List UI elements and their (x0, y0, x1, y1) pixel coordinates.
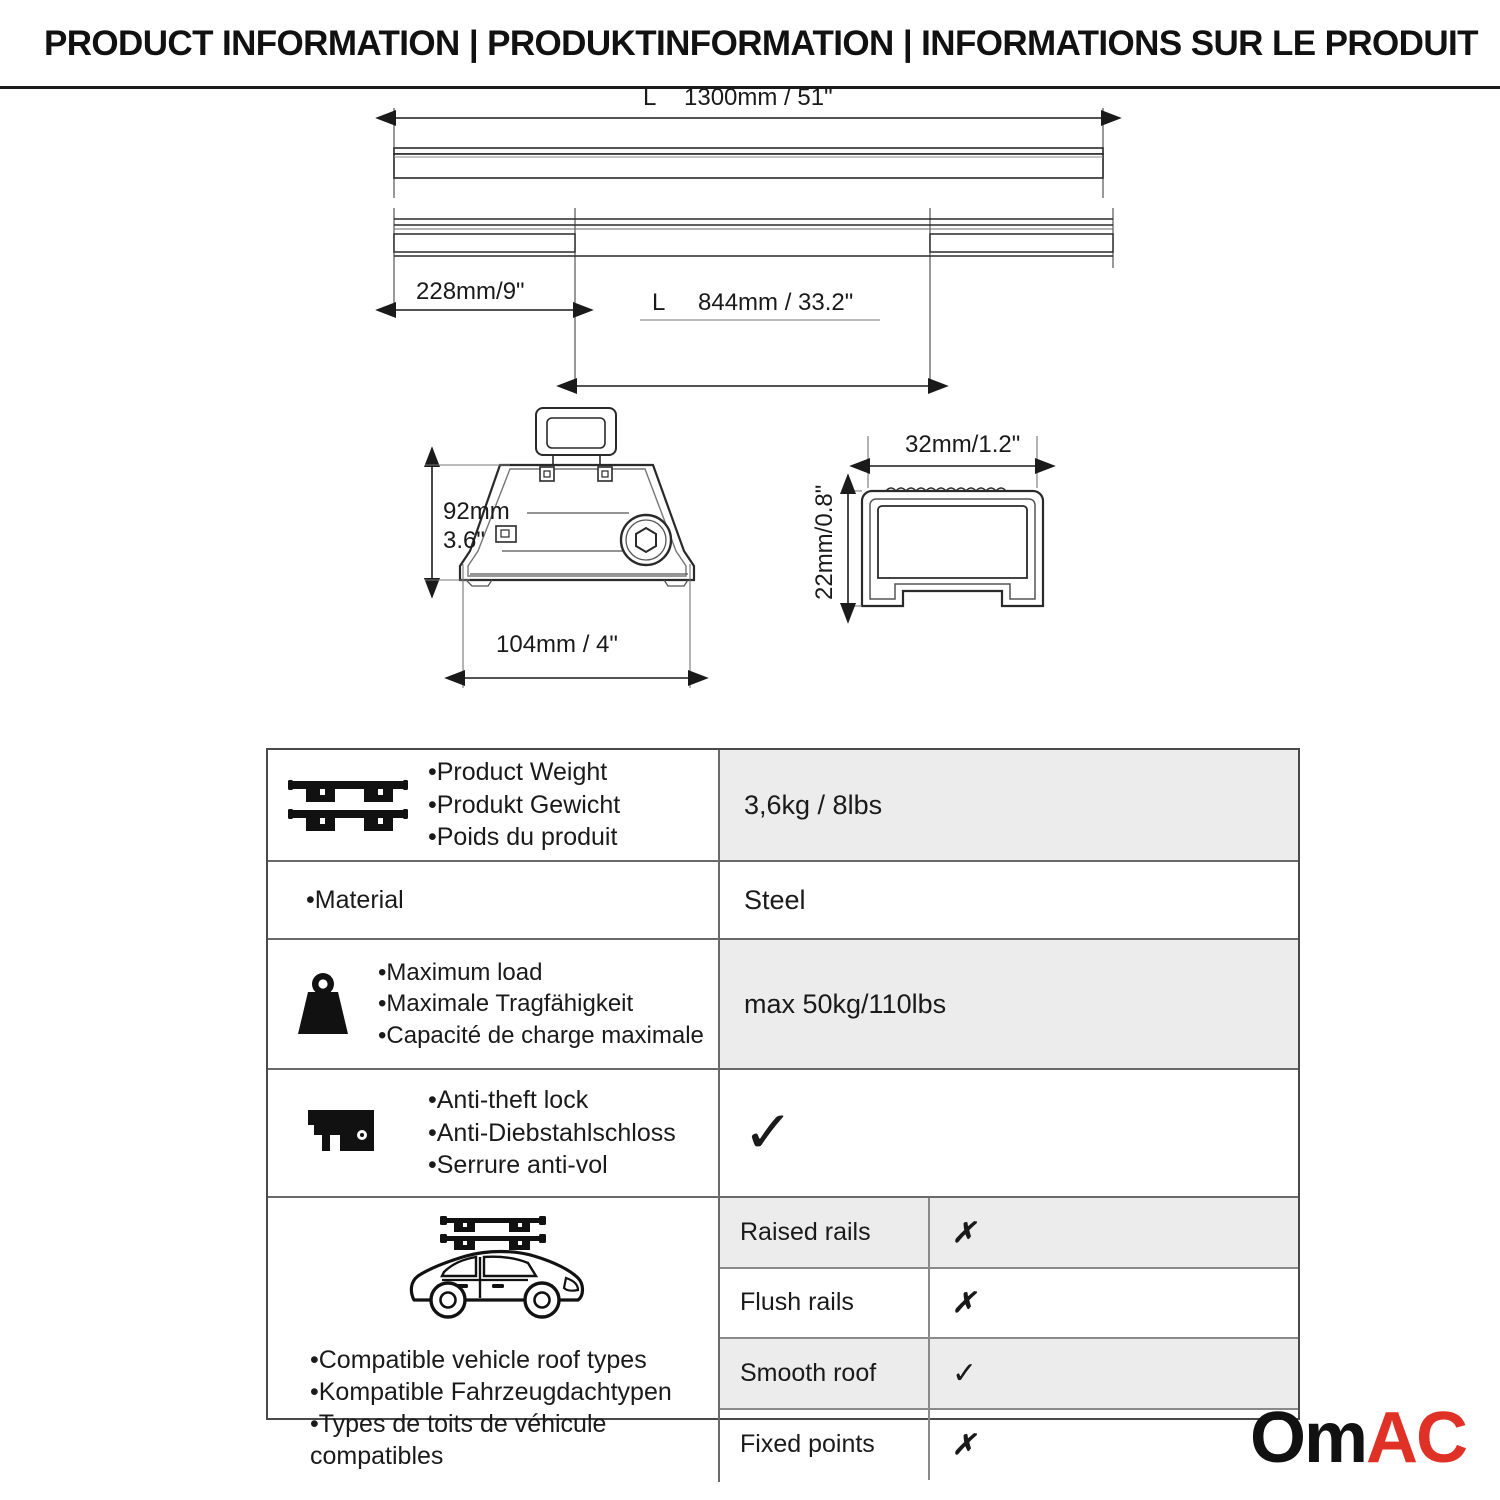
row-label-cell: •Product Weight •Produkt Gewicht •Poids … (268, 750, 720, 860)
table-row-anti-theft-lock: •Anti-theft lock •Anti-Diebstahlschloss … (268, 1070, 1298, 1198)
label-line: •Compatible vehicle roof types (310, 1344, 672, 1376)
roof-types-support-table: Raised rails ✗ Flush rails ✗ Smooth roof… (720, 1198, 1298, 1482)
row-label-cell: •Maximum load •Maximale Tragfähigkeit •C… (268, 940, 720, 1068)
label-line: compatibles (310, 1440, 672, 1472)
roof-type-support-value: ✗ (930, 1269, 1298, 1338)
label-line: •Poids du produit (428, 821, 716, 854)
page-title: PRODUCT INFORMATION | PRODUKTINFORMATION… (44, 24, 1478, 64)
roof-type-name: Raised rails (720, 1198, 930, 1267)
table-row-roof-types: •Compatible vehicle roof types •Kompatib… (268, 1198, 1298, 1482)
dim-profile-width-value: 32mm/1.2" (905, 431, 1020, 458)
roof-type-name: Fixed points (720, 1410, 930, 1481)
cross-icon: ✗ (952, 1428, 975, 1461)
roof-type-name: Smooth roof (720, 1339, 930, 1408)
roof-type-name: Flush rails (720, 1269, 930, 1338)
roof-type-support-value: ✓ (930, 1339, 1298, 1408)
omac-logo: OmAC (1250, 1402, 1466, 1474)
dim-foot-width-value: 104mm / 4" (496, 631, 618, 658)
label-line: •Types de toits de véhicule (310, 1408, 672, 1440)
label-line: •Serrure anti-vol (428, 1149, 716, 1182)
roof-type-row-raised-rails: Raised rails ✗ (720, 1198, 1298, 1269)
row-labels: •Anti-theft lock •Anti-Diebstahlschloss … (428, 1084, 718, 1182)
row-label-cell: •Anti-theft lock •Anti-Diebstahlschloss … (268, 1070, 720, 1196)
dim-foot-height-line1: 92mm (443, 498, 510, 525)
page-header: PRODUCT INFORMATION | PRODUKTINFORMATION… (0, 0, 1500, 88)
dim-foot-height-line2: 3.6" (443, 527, 485, 554)
label-line: •Capacité de charge maximale (378, 1020, 716, 1051)
check-icon: ✓ (952, 1356, 977, 1391)
label-line: •Maximale Tragfähigkeit (378, 988, 716, 1019)
row-value-material: Steel (720, 862, 1298, 938)
two-crossbars-icon (268, 776, 428, 834)
roof-type-row-fixed-points: Fixed points ✗ (720, 1410, 1298, 1481)
drawing-canvas: L 1300mm / 51" 228mm/9" L 844mm / 33.2" (0, 88, 1500, 738)
roof-type-row-flush-rails: Flush rails ✗ (720, 1269, 1298, 1340)
label-line: •Product Weight (428, 756, 716, 789)
roof-types-label-cell: •Compatible vehicle roof types •Kompatib… (268, 1198, 720, 1482)
table-row-maximum-load: •Maximum load •Maximale Tragfähigkeit •C… (268, 940, 1298, 1070)
car-with-rack-icon (282, 1212, 710, 1330)
checkmark-icon: ✓ (743, 1104, 794, 1162)
cross-icon: ✗ (952, 1216, 975, 1249)
label-line: •Material (306, 884, 716, 917)
weight-icon (268, 972, 378, 1036)
cross-icon: ✗ (952, 1286, 975, 1319)
specification-table: •Product Weight •Produkt Gewicht •Poids … (266, 748, 1300, 1420)
row-value-maximum-load: max 50kg/110lbs (720, 940, 1298, 1068)
label-line: •Anti-Diebstahlschloss (428, 1117, 716, 1150)
row-labels: •Maximum load •Maximale Tragfähigkeit •C… (378, 957, 718, 1051)
dim-foot-offset-value: 228mm/9" (416, 278, 525, 305)
lock-icon (268, 1106, 428, 1160)
label-line: •Kompatible Fahrzeugdachtypen (310, 1376, 672, 1408)
label-line: •Maximum load (378, 957, 716, 988)
label-line: •Anti-theft lock (428, 1084, 716, 1117)
logo-text-dark: Om (1250, 1398, 1366, 1478)
dim-bar-length-prefix: L (643, 88, 656, 111)
row-value-anti-theft-lock: ✓ (720, 1070, 1298, 1196)
table-row-product-weight: •Product Weight •Produkt Gewicht •Poids … (268, 750, 1298, 862)
dim-span-prefix: L (652, 289, 665, 316)
table-row-material: •Material Steel (268, 862, 1298, 940)
logo-text-red: AC (1366, 1398, 1466, 1478)
roof-types-labels: •Compatible vehicle roof types •Kompatib… (282, 1344, 672, 1472)
dim-span-value: 844mm / 33.2" (698, 289, 853, 316)
label-line: •Produkt Gewicht (428, 789, 716, 822)
row-value-product-weight: 3,6kg / 8lbs (720, 750, 1298, 860)
dim-bar-length-value: 1300mm / 51" (684, 88, 833, 111)
roof-type-support-value: ✗ (930, 1198, 1298, 1267)
dim-profile-height-value: 22mm/0.8" (811, 485, 838, 600)
row-label-cell: •Material (268, 862, 720, 938)
roof-type-support-value: ✗ (930, 1410, 1298, 1481)
row-labels: •Product Weight •Produkt Gewicht •Poids … (428, 756, 718, 854)
technical-drawings: L 1300mm / 51" 228mm/9" L 844mm / 33.2" (0, 88, 1500, 738)
roof-type-row-smooth-roof: Smooth roof ✓ (720, 1339, 1298, 1410)
row-labels: •Material (268, 884, 718, 917)
